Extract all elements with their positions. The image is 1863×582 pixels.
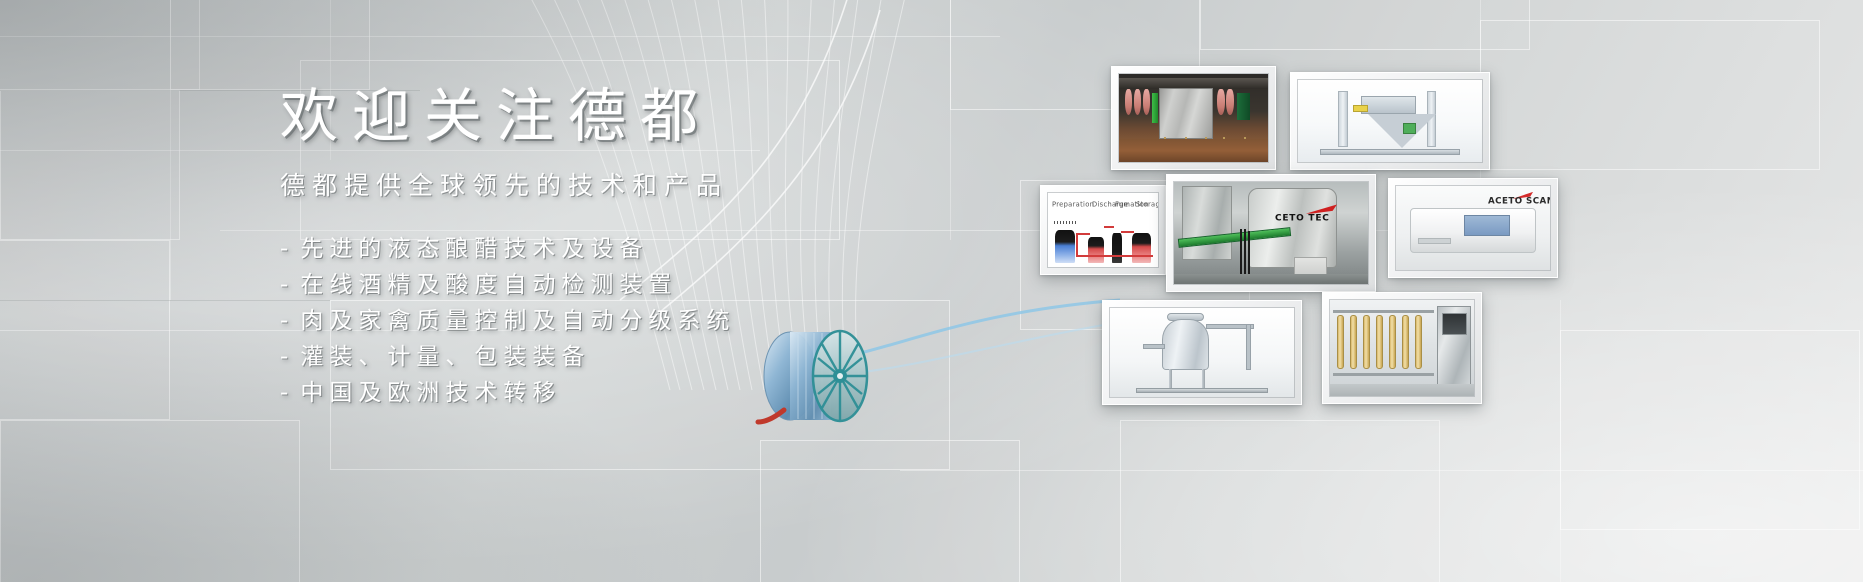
list-item: -中国及欧洲技术转移: [280, 377, 1040, 410]
cetotec-logo: CETO TEC: [1275, 213, 1330, 224]
gallery-photo-membrane-filtration-plant[interactable]: [1322, 292, 1482, 404]
list-item: -肉及家禽质量控制及自动分级系统: [280, 305, 1040, 338]
cable-reel-graphic: [744, 318, 884, 428]
flow-label-storage: Storage Tank: [1136, 200, 1159, 208]
bullet-dash: -: [280, 236, 294, 262]
gallery-photo-filtration-skid[interactable]: [1102, 300, 1302, 405]
acetoscan-logo: ACETO SCAN: [1488, 196, 1551, 206]
gallery-photo-fermenter-room[interactable]: CETO TEC: [1166, 174, 1376, 292]
gallery-photo-acetoscan-analyzer[interactable]: ACETO SCAN: [1388, 178, 1558, 278]
banner-copy: 欢迎关注德都 德都提供全球领先的技术和产品 -先进的液态酿醋技术及设备 -在线酒…: [280, 86, 1040, 413]
list-item: -先进的液态酿醋技术及设备: [280, 233, 1040, 266]
list-item-label: 先进的液态酿醋技术及设备: [300, 236, 648, 262]
welcome-banner: 欢迎关注德都 德都提供全球领先的技术和产品 -先进的液态酿醋技术及设备 -在线酒…: [0, 0, 1863, 582]
gallery-photo-poultry-processing-line[interactable]: [1111, 66, 1276, 170]
page-subtitle: 德都提供全球领先的技术和产品: [280, 171, 1040, 201]
bullet-dash: -: [280, 344, 294, 370]
list-item-label: 肉及家禽质量控制及自动分级系统: [300, 308, 735, 334]
list-item-label: 中国及欧洲技术转移: [300, 380, 561, 406]
page-title: 欢迎关注德都: [280, 86, 1040, 147]
bullet-dash: -: [280, 308, 294, 334]
list-item: -在线酒精及酸度自动检测装置: [280, 269, 1040, 302]
gallery-photo-white-processing-machine[interactable]: [1290, 72, 1490, 170]
list-item-label: 在线酒精及酸度自动检测装置: [300, 272, 677, 298]
feature-list: -先进的液态酿醋技术及设备 -在线酒精及酸度自动检测装置 -肉及家禽质量控制及自…: [280, 233, 1040, 410]
bullet-dash: -: [280, 380, 294, 406]
list-item: -灌装、计量、包装装备: [280, 341, 1040, 374]
list-item-label: 灌装、计量、包装装备: [300, 344, 590, 370]
flow-label-preparation: Preparation: [1052, 200, 1094, 208]
bullet-dash: -: [280, 272, 294, 298]
gallery-photo-process-flow-diagram[interactable]: Preparation Discharge Fumation Storage T…: [1040, 185, 1166, 275]
